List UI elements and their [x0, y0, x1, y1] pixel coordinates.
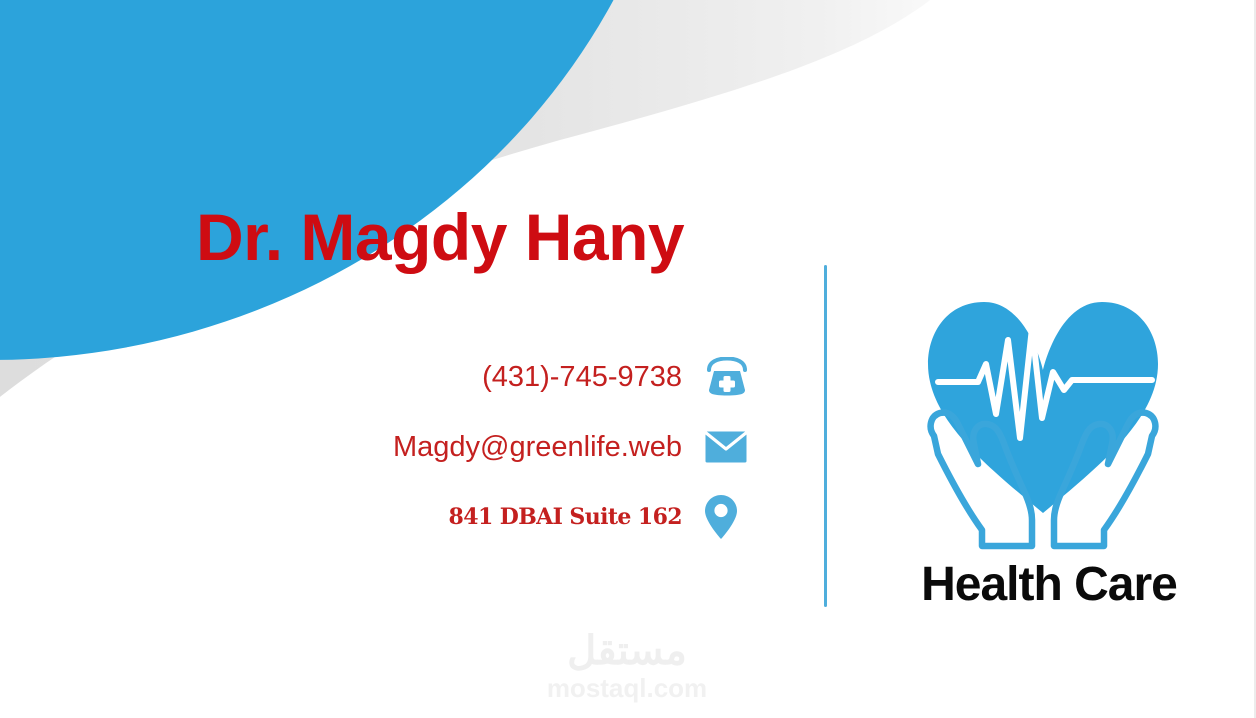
page-title: Dr. Magdy Hany	[196, 203, 684, 272]
business-card: Dr. Magdy Hany (431)-745-9738 Magdy@gree…	[0, 0, 1256, 718]
heart-in-hands-icon	[912, 268, 1174, 550]
street-address: 841 DBAI Suite 162	[449, 504, 682, 530]
contact-row-phone[interactable]: (431)-745-9738	[300, 355, 750, 399]
map-pin-icon	[704, 495, 750, 539]
watermark-arabic-text: مستقل	[0, 630, 1254, 672]
brand-name: Health Care	[884, 557, 1214, 612]
vertical-divider	[824, 265, 827, 607]
contact-details: (431)-745-9738 Magdy@greenlife.web 8	[300, 355, 750, 539]
contact-row-email[interactable]: Magdy@greenlife.web	[300, 425, 750, 469]
blue-swoosh	[0, 0, 560, 365]
email-address: Magdy@greenlife.web	[393, 431, 682, 464]
watermark-url-text: mostaql.com	[0, 674, 1254, 703]
contact-row-address[interactable]: 841 DBAI Suite 162	[300, 495, 750, 539]
envelope-icon	[704, 425, 750, 469]
watermark: مستقل mostaql.com	[0, 630, 1254, 703]
phone-number: (431)-745-9738	[482, 361, 682, 394]
blue-swoosh-body	[0, 0, 690, 360]
phone-medical-icon	[704, 355, 750, 399]
